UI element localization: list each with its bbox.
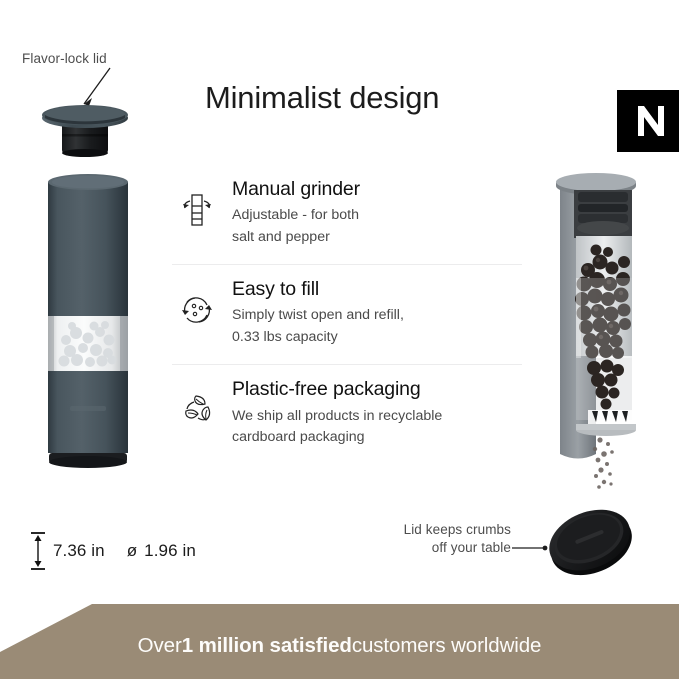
dimensions-row: 7.36 in ø 1.96 in — [30, 531, 196, 571]
promo-banner-text: Over 1 million satisfied customers world… — [0, 604, 679, 679]
brand-logo — [617, 90, 679, 152]
feature-title: Plastic-free packaging — [232, 365, 522, 400]
feature-manual-grinder: Manual grinder Adjustable - for both sal… — [172, 165, 522, 264]
dimension-height: 7.36 in — [30, 531, 105, 571]
infographic-canvas: Minimalist design Flavor-lock lid — [0, 0, 679, 679]
lid-crumbs-label: Lid keeps crumbs off your table — [393, 521, 511, 557]
banner-prefix: Over — [138, 634, 182, 658]
banner-suffix: customers worldwide — [352, 634, 542, 658]
feature-description: Simply twist open and refill, 0.33 lbs c… — [232, 305, 522, 364]
feature-title: Easy to fill — [232, 265, 522, 300]
height-arrow-icon — [30, 531, 46, 571]
feature-list: Manual grinder Adjustable - for both sal… — [172, 165, 522, 464]
feature-plastic-free-packaging: Plastic-free packaging We ship all produ… — [172, 364, 522, 464]
flavor-lock-lid-image — [36, 96, 134, 158]
diameter-icon: ø — [127, 541, 137, 561]
grinder-left-image — [42, 168, 134, 470]
refill-twist-icon — [176, 289, 218, 331]
lid-bottom-image — [536, 505, 644, 577]
n-logo-icon — [617, 90, 679, 152]
feature-description: Adjustable - for both salt and pepper — [232, 205, 522, 264]
feature-easy-to-fill: Easy to fill Simply twist open and refil… — [172, 264, 522, 364]
height-value: 7.36 in — [53, 541, 105, 561]
diameter-value: 1.96 in — [144, 541, 196, 561]
grinder-twist-icon — [176, 189, 218, 231]
feature-description: We ship all products in recyclable cardb… — [232, 406, 522, 465]
dimension-diameter: ø 1.96 in — [127, 541, 196, 561]
grinder-cutaway-image — [540, 162, 652, 492]
banner-emphasis: 1 million satisfied — [182, 634, 352, 658]
recycle-leaves-icon — [176, 389, 218, 431]
page-title: Minimalist design — [205, 80, 439, 116]
feature-title: Manual grinder — [232, 165, 522, 200]
